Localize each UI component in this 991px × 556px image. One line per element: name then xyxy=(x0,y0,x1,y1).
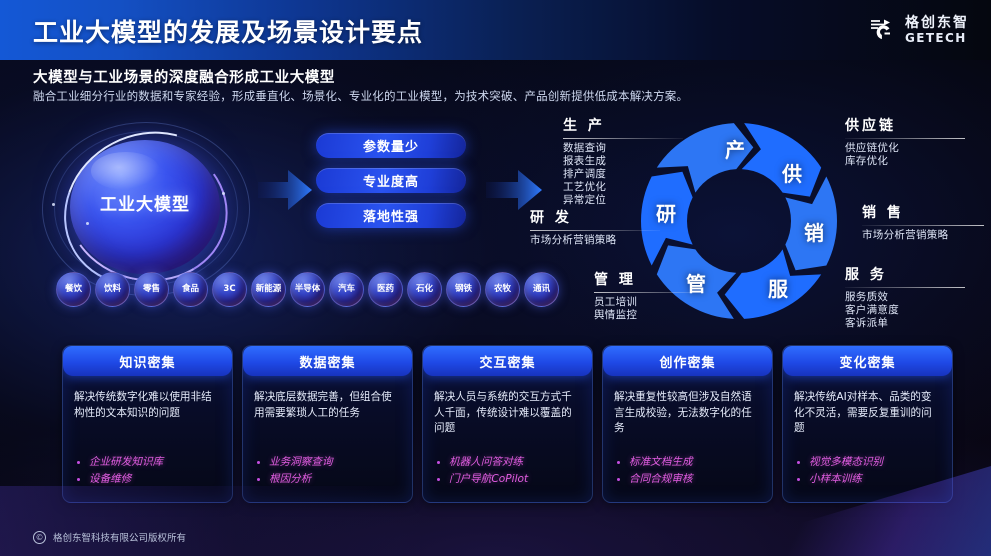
industry-bubble[interactable]: 餐饮 xyxy=(56,272,91,307)
scenario-card-title: 创作密集 xyxy=(603,346,772,376)
group-item: 市场分析营销策略 xyxy=(862,229,984,242)
bullet-dot-icon xyxy=(77,478,80,481)
divider xyxy=(862,225,984,226)
feature-pill-list: 参数量少 专业度高 落地性强 xyxy=(316,133,466,238)
group-heading: 销 售 xyxy=(862,202,984,222)
industry-bubble[interactable]: 3C xyxy=(212,272,247,307)
industry-bubble[interactable]: 新能源 xyxy=(251,272,286,307)
header-bar: 工业大模型的发展及场景设计要点 格创东智 GETECH xyxy=(0,0,991,60)
industry-bubble[interactable]: 医药 xyxy=(368,272,403,307)
divider xyxy=(845,287,965,288)
scenario-card-bullet-list: 业务洞察查询根因分析 xyxy=(257,454,333,488)
group-item: 供应链优化 xyxy=(845,142,965,155)
feature-pill[interactable]: 专业度高 xyxy=(316,168,466,193)
bullet-dot-icon xyxy=(617,478,620,481)
industry-bubble[interactable]: 汽车 xyxy=(329,272,364,307)
group-item: 员工培训 xyxy=(594,296,704,309)
scenario-card-title: 变化密集 xyxy=(783,346,952,376)
scenario-card-bullet: 机器人问答对练 xyxy=(437,454,528,471)
scenario-card-bullet: 根因分析 xyxy=(257,471,333,488)
industry-bubble[interactable]: 通讯 xyxy=(524,272,559,307)
divider xyxy=(563,138,683,139)
flow-arrow-left-icon xyxy=(258,166,312,218)
scenario-card-row: 知识密集解决传统数字化难以使用非结构性的文本知识的问题企业研发知识库设备维修数据… xyxy=(62,345,953,503)
bullet-label: 小样本训练 xyxy=(809,471,862,488)
group-item: 数据查询 xyxy=(563,142,683,155)
decor-dot xyxy=(86,222,89,225)
industry-bubble[interactable]: 饮料 xyxy=(95,272,130,307)
group-heading: 服 务 xyxy=(845,264,965,284)
copyright-footer: © 格创东智科技有限公司版权所有 xyxy=(33,530,186,544)
scenario-card-bullet-list: 企业研发知识库设备维修 xyxy=(77,454,163,488)
bullet-label: 企业研发知识库 xyxy=(89,454,163,471)
scenario-card-bullet: 门户导航CoPilot xyxy=(437,471,528,488)
brand-name-en: GETECH xyxy=(905,32,969,44)
group-heading: 供应链 xyxy=(845,115,965,135)
industry-bubble[interactable]: 食品 xyxy=(173,272,208,307)
group-item: 客户满意度 xyxy=(845,304,965,317)
slide-root: 工业大模型的发展及场景设计要点 格创东智 GETECH 大模型与工业场景的深度融… xyxy=(0,0,991,556)
bullet-dot-icon xyxy=(257,478,260,481)
group-heading: 生 产 xyxy=(563,115,683,135)
scenario-card-bullet: 小样本训练 xyxy=(797,471,883,488)
scenario-card-title: 知识密集 xyxy=(63,346,232,376)
copyright-text: 格创东智科技有限公司版权所有 xyxy=(53,530,186,544)
group-item: 客诉派单 xyxy=(845,317,965,330)
brand-logo: 格创东智 GETECH xyxy=(867,15,969,45)
bullet-dot-icon xyxy=(797,478,800,481)
brand-name-cn: 格创东智 xyxy=(905,16,969,30)
decor-dot xyxy=(52,203,55,206)
group-heading: 研 发 xyxy=(530,207,660,227)
scenario-card-description: 解决传统AI对样本、品类的变化不灵活，需要反复重训的问题 xyxy=(783,376,952,437)
group-item: 库存优化 xyxy=(845,155,965,168)
scenario-card[interactable]: 知识密集解决传统数字化难以使用非结构性的文本知识的问题企业研发知识库设备维修 xyxy=(62,345,233,503)
divider xyxy=(530,230,660,231)
bullet-label: 业务洞察查询 xyxy=(269,454,333,471)
copyright-icon: © xyxy=(33,531,46,544)
cycle-segment-label: 服 xyxy=(768,273,788,302)
group-item: 舆情监控 xyxy=(594,309,704,322)
scenario-card-description: 解决重复性较高但涉及自然语言生成校验，无法数字化的任务 xyxy=(603,376,772,437)
industry-bubble[interactable]: 半导体 xyxy=(290,272,325,307)
scenario-card[interactable]: 数据密集解决底层数据完善，但组合使用需要繁琐人工的任务业务洞察查询根因分析 xyxy=(242,345,413,503)
page-title: 工业大模型的发展及场景设计要点 xyxy=(33,13,423,49)
group-item: 服务质效 xyxy=(845,291,965,304)
bullet-dot-icon xyxy=(797,461,800,464)
bullet-label: 门户导航CoPilot xyxy=(449,471,528,488)
bullet-dot-icon xyxy=(257,461,260,464)
scenario-card-bullet: 标准文档生成 xyxy=(617,454,693,471)
bullet-dot-icon xyxy=(437,478,440,481)
cycle-segment-label: 产 xyxy=(725,134,745,163)
group-item: 报表生成 xyxy=(563,155,683,168)
section-lead-text: 融合工业细分行业的数据和专家经验，形成垂直化、场景化、专业化的工业模型，为技术突… xyxy=(33,88,688,104)
industry-bubble-row: 餐饮饮料零售食品3C新能源半导体汽车医药石化钢铁农牧通讯 xyxy=(56,272,559,307)
scenario-card-bullet: 企业研发知识库 xyxy=(77,454,163,471)
industry-bubble[interactable]: 零售 xyxy=(134,272,169,307)
bullet-label: 合同合规审核 xyxy=(629,471,693,488)
group-supply-chain: 供应链 供应链优化 库存优化 xyxy=(845,115,965,168)
bullet-dot-icon xyxy=(437,461,440,464)
scenario-card[interactable]: 变化密集解决传统AI对样本、品类的变化不灵活，需要反复重训的问题视觉多模态识别小… xyxy=(782,345,953,503)
group-service: 服 务 服务质效 客户满意度 客诉派单 xyxy=(845,264,965,330)
bullet-label: 机器人问答对练 xyxy=(449,454,523,471)
group-management: 管 理 员工培训 舆情监控 xyxy=(594,269,704,322)
scenario-card-bullet: 合同合规审核 xyxy=(617,471,693,488)
group-item: 异常定位 xyxy=(563,194,683,207)
group-item: 市场分析营销策略 xyxy=(530,234,660,247)
group-rnd: 研 发 市场分析营销策略 xyxy=(530,207,660,247)
group-sales: 销 售 市场分析营销策略 xyxy=(862,202,984,242)
bullet-dot-icon xyxy=(77,461,80,464)
scenario-card-description: 解决底层数据完善，但组合使用需要繁琐人工的任务 xyxy=(243,376,412,421)
scenario-card-bullet: 业务洞察查询 xyxy=(257,454,333,471)
section-subtitle: 大模型与工业场景的深度融合形成工业大模型 xyxy=(33,66,335,87)
scenario-card-description: 解决人员与系统的交互方式千人千面，传统设计难以覆盖的问题 xyxy=(423,376,592,437)
scenario-card-bullet-list: 标准文档生成合同合规审核 xyxy=(617,454,693,488)
bullet-dot-icon xyxy=(617,461,620,464)
scenario-card-bullet-list: 视觉多模态识别小样本训练 xyxy=(797,454,883,488)
group-heading: 管 理 xyxy=(594,269,704,289)
group-production: 生 产 数据查询 报表生成 排产调度 工艺优化 异常定位 xyxy=(563,115,683,207)
feature-pill[interactable]: 参数量少 xyxy=(316,133,466,158)
industry-bubble[interactable]: 农牧 xyxy=(485,272,520,307)
cycle-segment-label: 供 xyxy=(782,158,802,187)
divider xyxy=(845,138,965,139)
scenario-card-title: 交互密集 xyxy=(423,346,592,376)
bullet-label: 视觉多模态识别 xyxy=(809,454,883,471)
cycle-segment-label: 销 xyxy=(804,217,824,246)
feature-pill[interactable]: 落地性强 xyxy=(316,203,466,228)
decor-dot xyxy=(222,192,225,195)
bullet-label: 标准文档生成 xyxy=(629,454,693,471)
group-item: 排产调度 xyxy=(563,168,683,181)
bullet-label: 根因分析 xyxy=(269,471,311,488)
industry-bubble[interactable]: 石化 xyxy=(407,272,442,307)
scenario-card-title: 数据密集 xyxy=(243,346,412,376)
divider xyxy=(594,292,704,293)
group-item: 工艺优化 xyxy=(563,181,683,194)
scenario-card-bullet: 视觉多模态识别 xyxy=(797,454,883,471)
scenario-card-bullet: 设备维修 xyxy=(77,471,163,488)
industry-bubble[interactable]: 钢铁 xyxy=(446,272,481,307)
scenario-card[interactable]: 创作密集解决重复性较高但涉及自然语言生成校验，无法数字化的任务标准文档生成合同合… xyxy=(602,345,773,503)
sphere-label: 工业大模型 xyxy=(70,190,220,215)
scenario-card-description: 解决传统数字化难以使用非结构性的文本知识的问题 xyxy=(63,376,232,421)
scenario-card-bullet-list: 机器人问答对练门户导航CoPilot xyxy=(437,454,528,488)
scenario-card[interactable]: 交互密集解决人员与系统的交互方式千人千面，传统设计难以覆盖的问题机器人问答对练门… xyxy=(422,345,593,503)
core-model-sphere: 工业大模型 xyxy=(26,120,266,295)
bullet-label: 设备维修 xyxy=(89,471,131,488)
getech-logo-icon xyxy=(867,15,897,45)
brand-logo-text: 格创东智 GETECH xyxy=(905,16,969,44)
